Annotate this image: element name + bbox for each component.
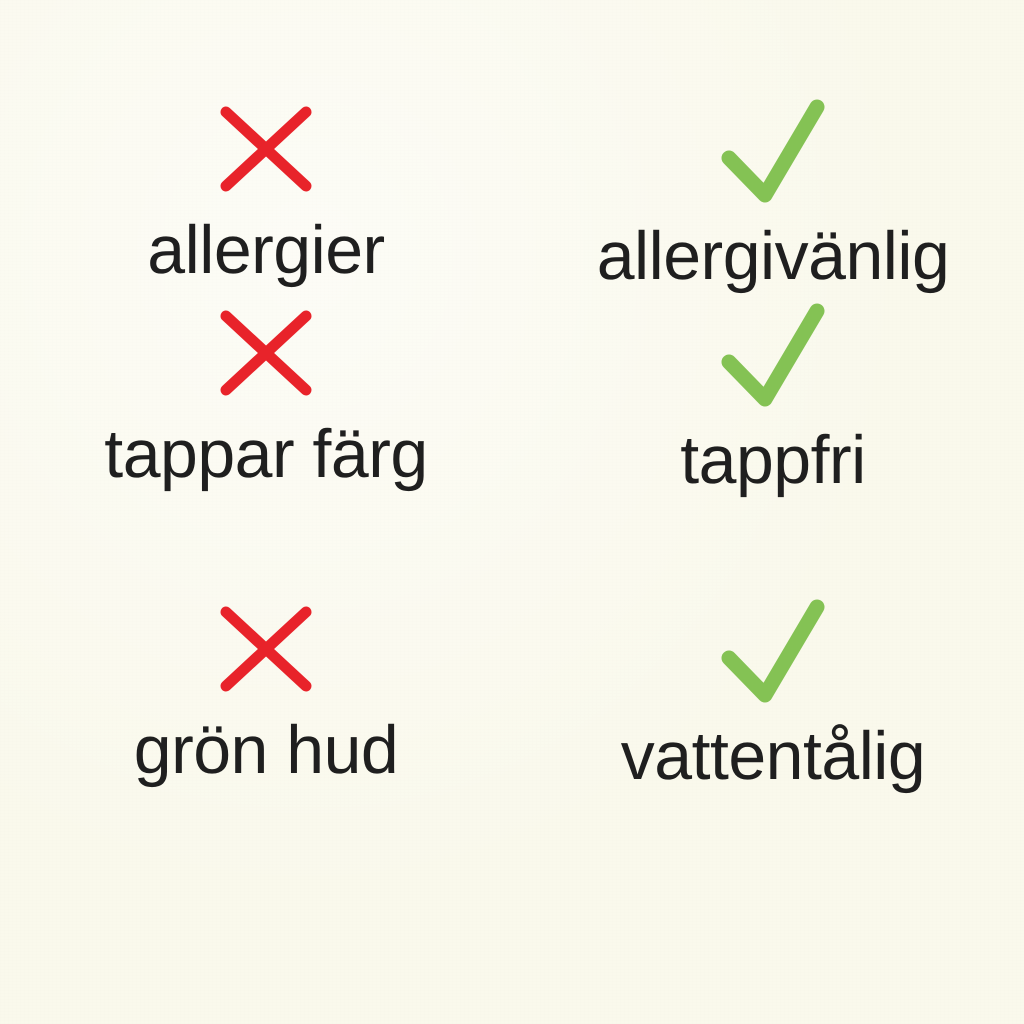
- check-icon: [713, 596, 833, 708]
- comparison-item-positive-3: vattentålig: [512, 580, 1024, 790]
- comparison-item-negative-3: grön hud: [0, 580, 512, 784]
- comparison-label-positive-3: vattentålig: [621, 722, 925, 790]
- comparison-label-negative-3: grön hud: [134, 716, 398, 784]
- comparison-label-negative-2: tappar färg: [104, 420, 427, 488]
- comparison-item-positive-1: allergivänlig: [512, 0, 1024, 290]
- comparison-grid: allergier allergivänlig tappar färg: [0, 0, 1024, 880]
- comparison-item-negative-2: tappar färg: [0, 300, 512, 488]
- check-icon: [713, 300, 833, 412]
- cross-icon: [210, 596, 322, 702]
- comparison-label-positive-2: tappfri: [680, 426, 866, 494]
- comparison-item-negative-1: allergier: [0, 0, 512, 284]
- comparison-label-positive-1: allergivänlig: [597, 222, 950, 290]
- comparison-item-positive-2: tappfri: [512, 300, 1024, 494]
- check-icon: [713, 96, 833, 208]
- cross-icon: [210, 300, 322, 406]
- comparison-poster: allergier allergivänlig tappar färg: [0, 0, 1024, 1024]
- cross-icon: [210, 96, 322, 202]
- comparison-label-negative-1: allergier: [147, 216, 384, 284]
